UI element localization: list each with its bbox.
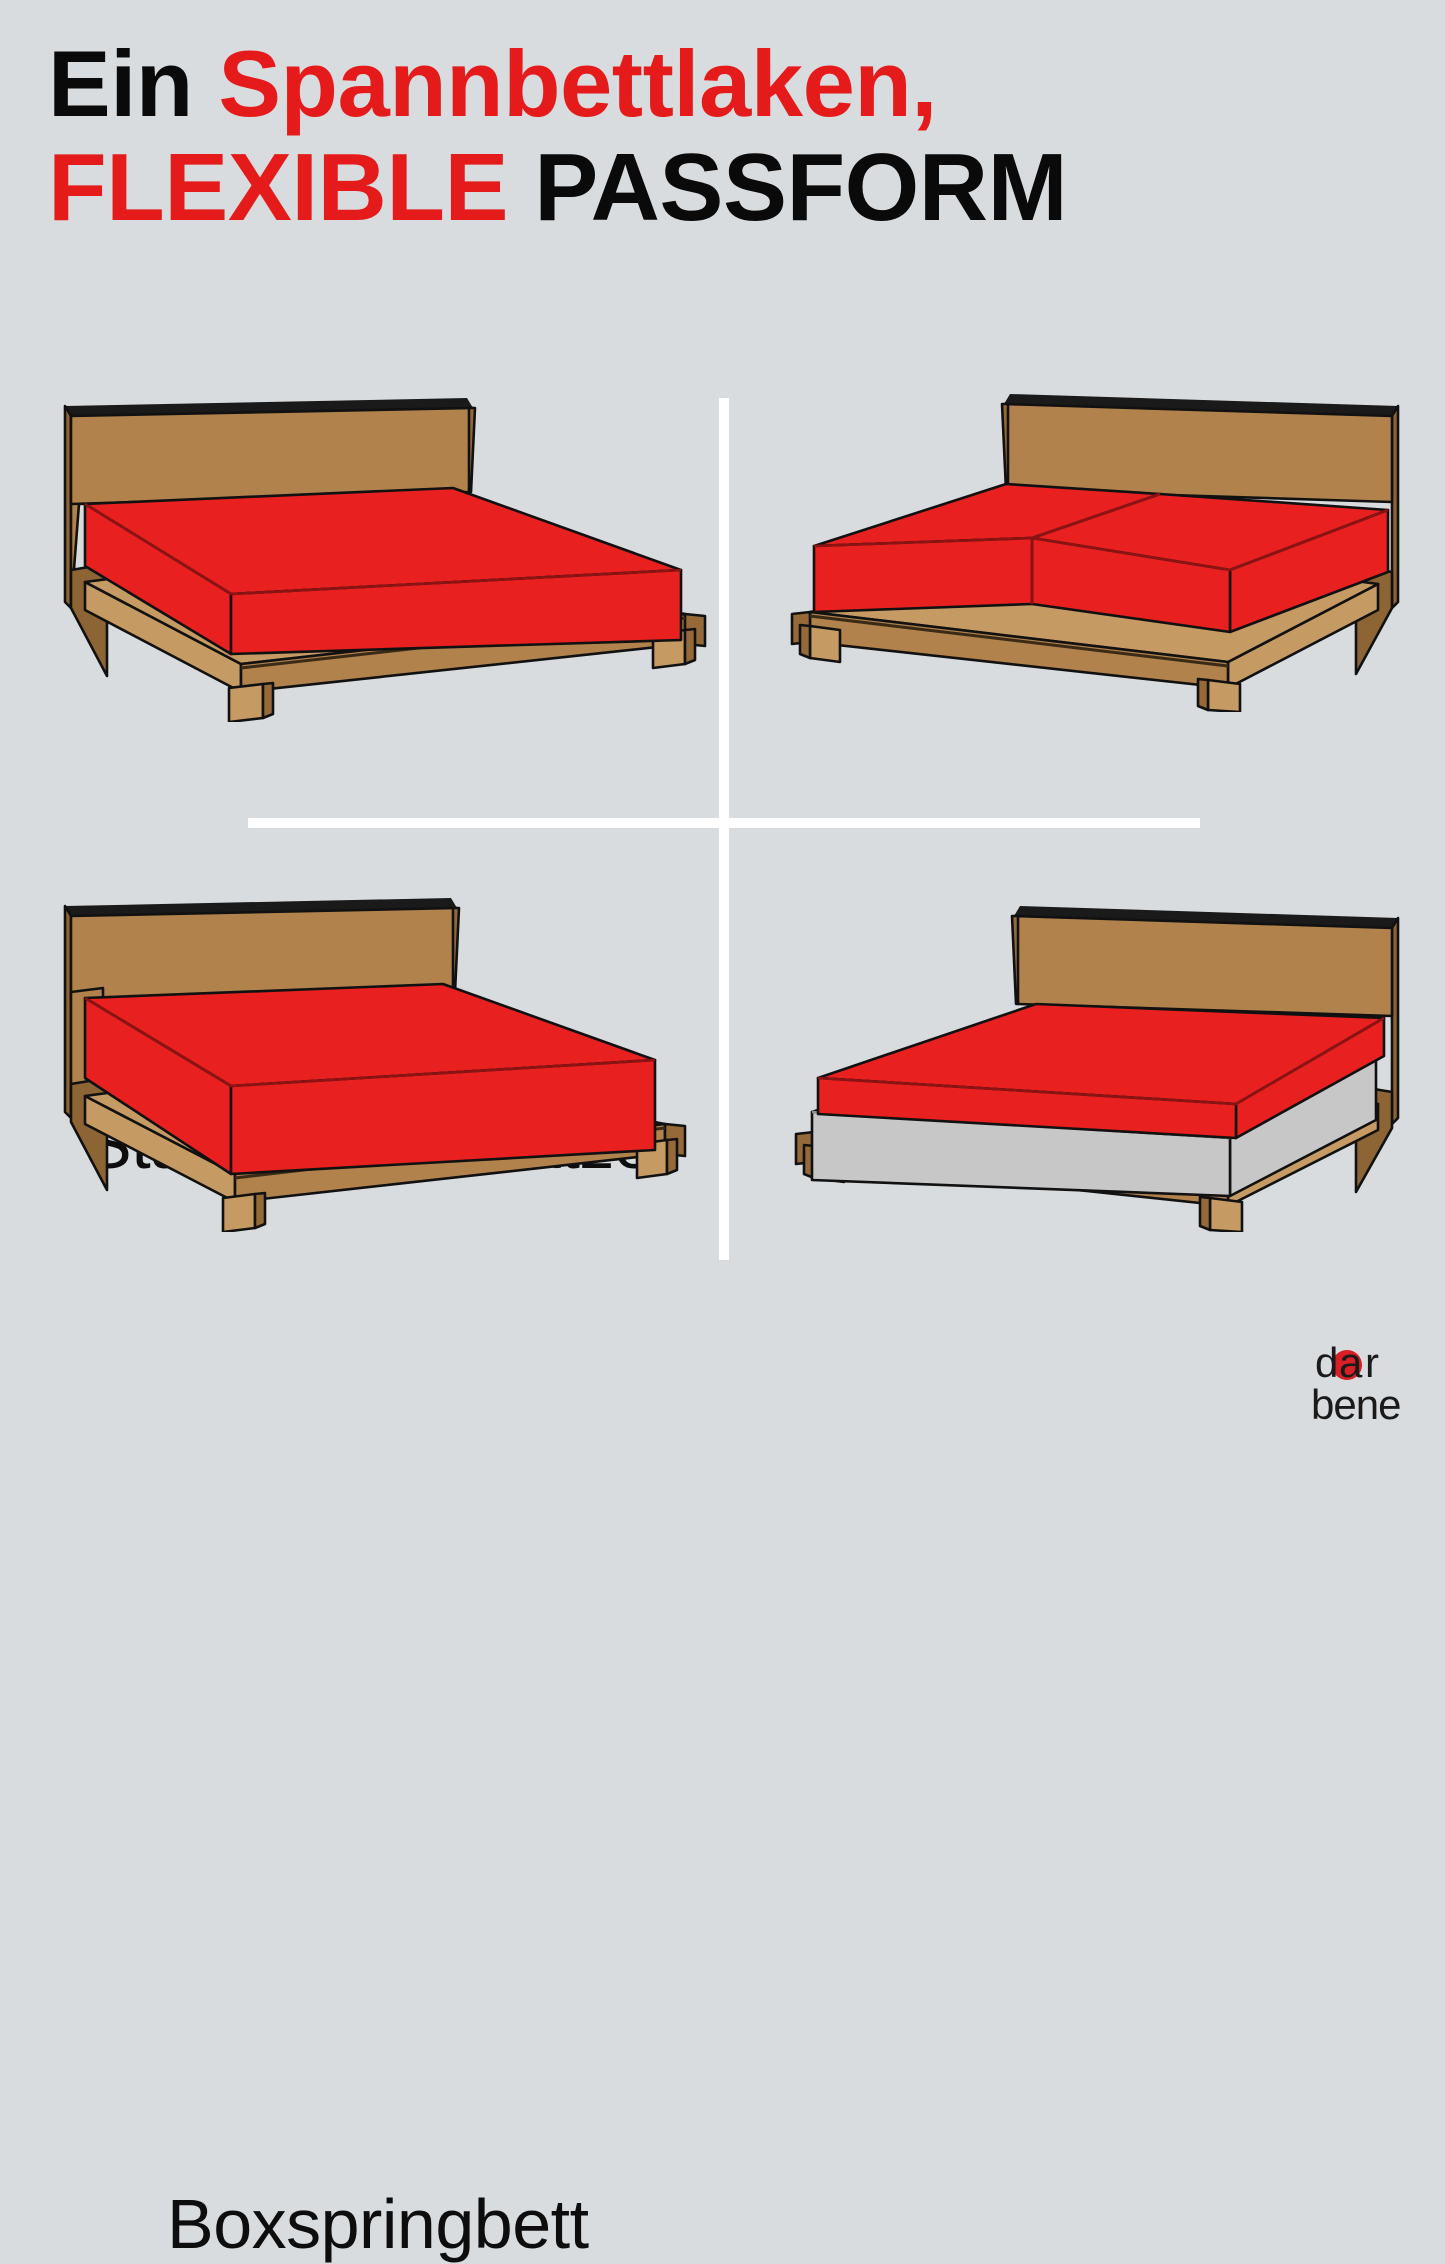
bed-topper-illustration [770, 892, 1410, 1232]
svg-text:r: r [1365, 1343, 1379, 1386]
quadrant-doppelbett: Doppelbett [770, 382, 1410, 712]
headline-line-2: FLEXIBLE PASSFORM [48, 139, 1248, 238]
quadrant-boxspringbett: Boxspringbett [45, 892, 725, 1232]
infographic-canvas: Ein Spannbettlaken, FLEXIBLE PASSFORM [0, 0, 1445, 1445]
headline-text-spannbettlaken: Spannbettlaken, [218, 31, 937, 136]
bed-standard-mattress-illustration [45, 392, 725, 722]
headline-line-1: Ein Spannbettlaken, [48, 36, 1248, 133]
headline-text-flexible: FLEXIBLE [48, 134, 508, 241]
brand-logo: d a r bene [1297, 1343, 1415, 1425]
quadrant-standard-matratze: Standard Matratze [45, 392, 725, 722]
page-title: Ein Spannbettlaken, FLEXIBLE PASSFORM [48, 36, 1248, 238]
label-boxspringbett: Boxspringbett [167, 2184, 589, 2264]
svg-text:d: d [1315, 1343, 1337, 1386]
svg-text:a: a [1339, 1343, 1363, 1386]
svg-text:bene: bene [1311, 1381, 1400, 1425]
bed-boxspring-illustration [45, 892, 725, 1232]
bed-double-split-mattress-illustration [770, 382, 1410, 712]
headline-text-ein: Ein [48, 31, 218, 136]
quadrant-topper: Topper [770, 892, 1410, 1232]
headline-text-passform: PASSFORM [508, 134, 1067, 241]
divider-horizontal [248, 818, 1200, 828]
